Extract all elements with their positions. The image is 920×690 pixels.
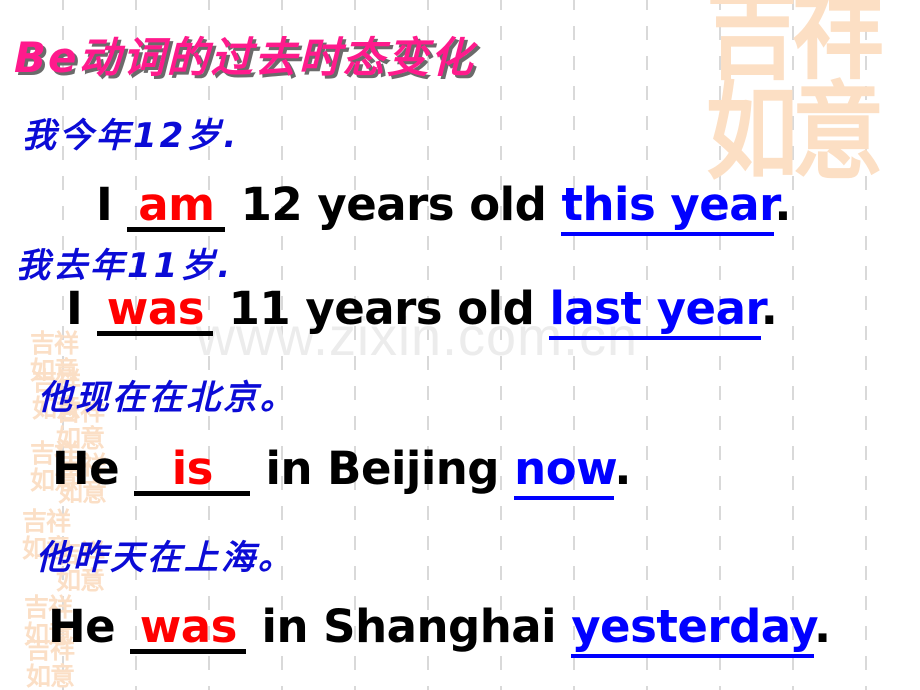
time-keyword-1: this year bbox=[561, 178, 774, 236]
page-title: Be动词的过去时态变化 bbox=[14, 24, 475, 85]
answer-blank-1[interactable]: am bbox=[127, 182, 225, 232]
sentence-suffix-3: . bbox=[614, 442, 631, 495]
chinese-prompt-2: 我去年11岁. bbox=[16, 238, 233, 287]
sentence-prefix-1: I bbox=[96, 178, 127, 231]
sentence-middle-4: in Shanghai bbox=[246, 600, 571, 653]
sentence-prefix-4: He bbox=[48, 600, 130, 653]
chinese-prompt-4: 他昨天在上海。 bbox=[36, 530, 295, 579]
chinese-prompt-3: 他现在在北京。 bbox=[38, 370, 297, 419]
sentence-suffix-1: . bbox=[774, 178, 791, 231]
english-sentence-1: I am 12 years old this year. bbox=[96, 178, 791, 232]
sentence-middle-2: 11 years old bbox=[213, 282, 549, 335]
time-keyword-2: last year bbox=[549, 282, 760, 340]
chinese-prompt-1: 我今年12岁. bbox=[22, 108, 239, 157]
time-keyword-4: yesterday bbox=[571, 600, 814, 658]
answer-blank-2[interactable]: was bbox=[97, 286, 213, 336]
answer-blank-3[interactable]: is bbox=[134, 446, 250, 496]
time-keyword-3: now bbox=[514, 442, 614, 500]
answer-blank-4[interactable]: was bbox=[130, 604, 246, 654]
english-sentence-2: I was 11 years old last year. bbox=[66, 282, 777, 336]
sentence-middle-1: 12 years old bbox=[225, 178, 561, 231]
slide-canvas: 吉祥如意 吉祥如意 吉祥如意 吉祥如意 吉祥如意 吉祥如意 吉祥如意 吉祥如意 … bbox=[0, 0, 920, 690]
english-sentence-4: He was in Shanghai yesterday. bbox=[48, 600, 831, 654]
sentence-suffix-4: . bbox=[814, 600, 831, 653]
sentence-prefix-3: He bbox=[52, 442, 134, 495]
sentence-middle-3: in Beijing bbox=[250, 442, 514, 495]
sentence-suffix-2: . bbox=[761, 282, 778, 335]
sentence-prefix-2: I bbox=[66, 282, 97, 335]
english-sentence-3: He is in Beijing now. bbox=[52, 442, 631, 496]
